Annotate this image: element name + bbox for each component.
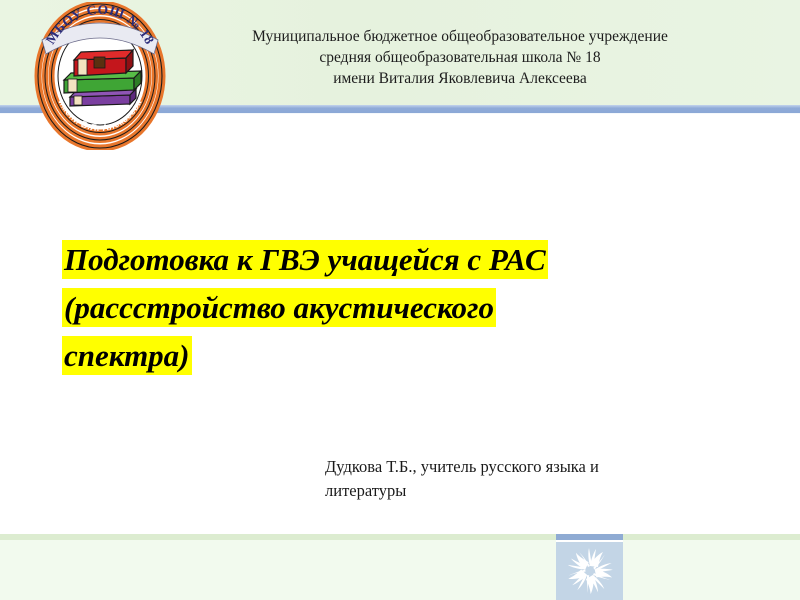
institution-line-2: средняя общеобразовательная школа № 18 — [175, 47, 745, 68]
institution-header-text: Муниципальное бюджетное общеобразователь… — [175, 26, 745, 89]
emblem-book-stack — [64, 50, 141, 106]
flower-icon — [566, 547, 614, 595]
slide-title: Подготовка к ГВЭ учащейся с РАС (рассстр… — [62, 236, 682, 380]
author-subtitle: Дудкова Т.Б., учитель русского языка и л… — [325, 455, 675, 503]
presentation-slide: Муниципальное бюджетное общеобразователь… — [0, 0, 800, 600]
author-line-2: литературы — [325, 479, 675, 503]
institution-line-1: Муниципальное бюджетное общеобразователь… — [175, 26, 745, 47]
title-line-3-text: спектра) — [62, 336, 192, 375]
title-line-1-text: Подготовка к ГВЭ учащейся с РАС — [62, 240, 548, 279]
author-line-1: Дудкова Т.Б., учитель русского языка и — [325, 455, 675, 479]
school-emblem-logo: МБОУ СОШ № 18 — [26, 2, 174, 150]
footer-band — [0, 540, 800, 600]
title-line-3: спектра) — [62, 332, 682, 380]
title-line-2: (рассстройство акустического — [62, 284, 682, 332]
title-line-2-text: (рассстройство акустического — [62, 288, 496, 327]
footer-accent-bar — [556, 534, 623, 542]
institution-line-3: имени Виталия Яковлевича Алексеева — [175, 68, 745, 89]
title-line-1: Подготовка к ГВЭ учащейся с РАС — [62, 236, 682, 284]
